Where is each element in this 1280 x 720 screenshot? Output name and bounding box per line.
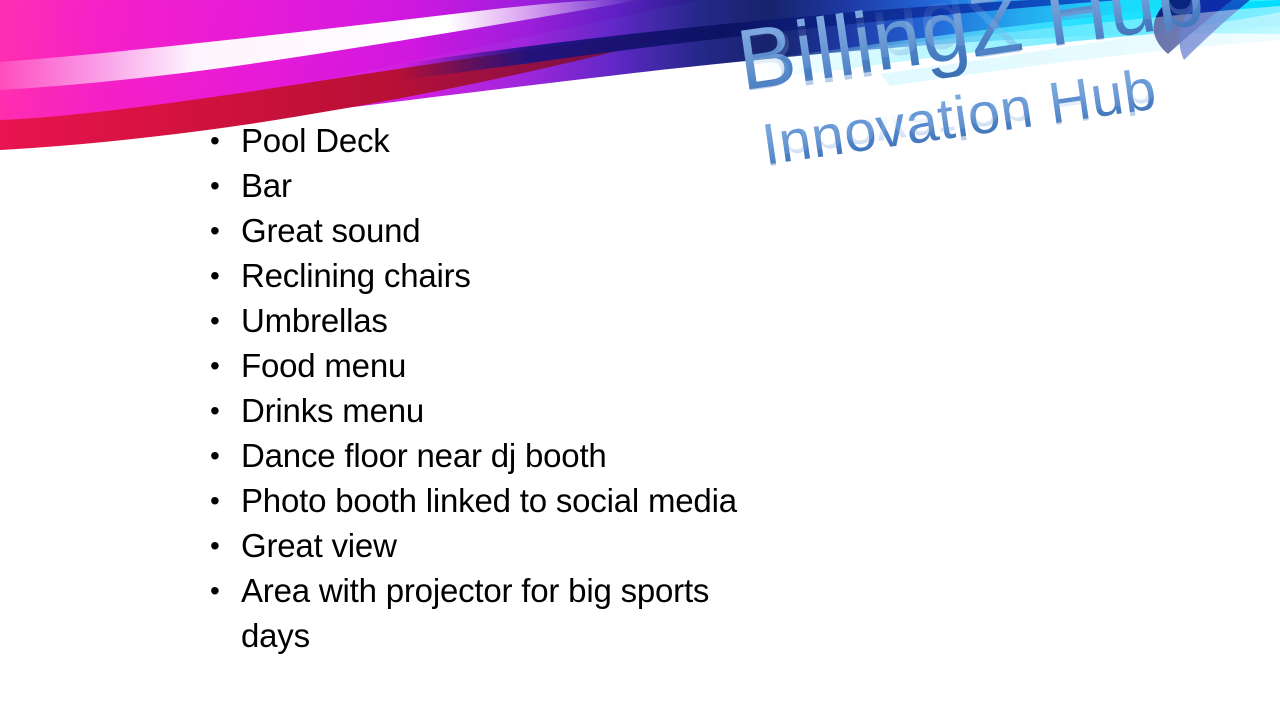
list-item-label: Area with projector for big sports days bbox=[241, 568, 770, 658]
logo-subtitle: Innovation Hub Innovation Hub bbox=[758, 39, 1280, 177]
list-item-label: Reclining chairs bbox=[241, 253, 770, 298]
logo-subtitle-text: Innovation Hub bbox=[758, 39, 1280, 177]
list-item-label: Great view bbox=[241, 523, 770, 568]
list-item: • Bar bbox=[210, 163, 770, 208]
presentation-slide: BillingZ Hub BillingZ Hub Innovation Hub… bbox=[0, 0, 1280, 720]
bullet-point-icon: • bbox=[210, 478, 241, 523]
list-item-label: Drinks menu bbox=[241, 388, 770, 433]
logo-title-reflection: BillingZ Hub bbox=[732, 0, 1210, 107]
bullet-point-icon: • bbox=[210, 343, 241, 388]
list-item-label: Great sound bbox=[241, 208, 770, 253]
list-item: • Photo booth linked to social media bbox=[210, 478, 770, 523]
list-item: • Umbrellas bbox=[210, 298, 770, 343]
bullet-point-icon: • bbox=[210, 568, 241, 613]
list-item-label: Pool Deck bbox=[241, 118, 770, 163]
list-item: • Dance floor near dj booth bbox=[210, 433, 770, 478]
list-item: • Reclining chairs bbox=[210, 253, 770, 298]
list-item: • Great view bbox=[210, 523, 770, 568]
bullet-point-icon: • bbox=[210, 163, 241, 208]
logo-title: BillingZ Hub BillingZ Hub bbox=[732, 0, 1280, 107]
logo-title-text: BillingZ Hub bbox=[732, 0, 1280, 107]
list-item: • Food menu bbox=[210, 343, 770, 388]
list-item-label: Food menu bbox=[241, 343, 770, 388]
bullet-point-icon: • bbox=[210, 208, 241, 253]
logo-subtitle-reflection: Innovation Hub bbox=[758, 59, 1160, 177]
bullet-point-icon: • bbox=[210, 118, 241, 163]
list-item: • Area with projector for big sports day… bbox=[210, 568, 770, 658]
bullet-point-icon: • bbox=[210, 253, 241, 298]
bullet-list: • Pool Deck • Bar • Great sound • Reclin… bbox=[210, 118, 770, 658]
list-item-label: Bar bbox=[241, 163, 770, 208]
list-item: • Great sound bbox=[210, 208, 770, 253]
list-item-label: Umbrellas bbox=[241, 298, 770, 343]
list-item-label: Photo booth linked to social media bbox=[241, 478, 770, 523]
bullet-point-icon: • bbox=[210, 523, 241, 568]
bullet-point-icon: • bbox=[210, 388, 241, 433]
list-item-label: Dance floor near dj booth bbox=[241, 433, 770, 478]
list-item: • Drinks menu bbox=[210, 388, 770, 433]
logo: BillingZ Hub BillingZ Hub Innovation Hub… bbox=[718, 0, 1280, 315]
list-item: • Pool Deck bbox=[210, 118, 770, 163]
bullet-point-icon: • bbox=[210, 433, 241, 478]
bullet-point-icon: • bbox=[210, 298, 241, 343]
